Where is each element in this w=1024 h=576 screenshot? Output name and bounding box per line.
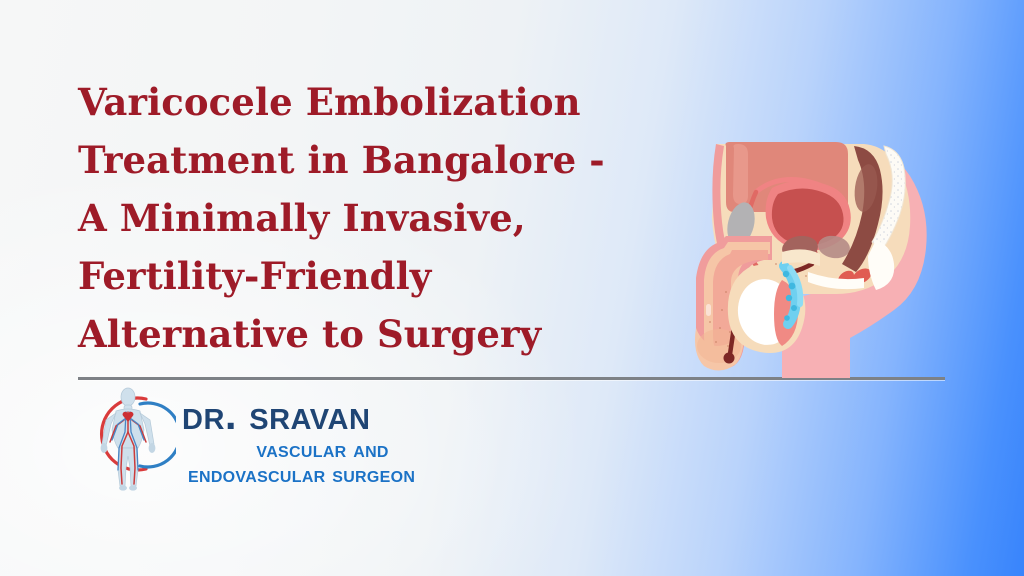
abdominal-cavity-highlight (733, 144, 748, 204)
page-title: Varicocele Embolization Treatment in Ban… (78, 73, 608, 363)
brand-logo[interactable]: Dr. Sravan Vascular and Endovascular sur… (80, 386, 415, 494)
urethral-meatus (706, 304, 711, 316)
logo-name: Dr. Sravan (182, 393, 415, 437)
vascular-body-icon (80, 386, 176, 494)
male-anatomy-illustration (686, 132, 954, 378)
logo-tagline-line2: Endovascular surgeon (182, 462, 415, 487)
logo-text-block: Dr. Sravan Vascular and Endovascular sur… (182, 393, 415, 487)
urethra-end (724, 353, 735, 364)
logo-tagline-line1: Vascular and (182, 437, 415, 462)
poster-canvas: Varicocele Embolization Treatment in Ban… (0, 0, 1024, 576)
